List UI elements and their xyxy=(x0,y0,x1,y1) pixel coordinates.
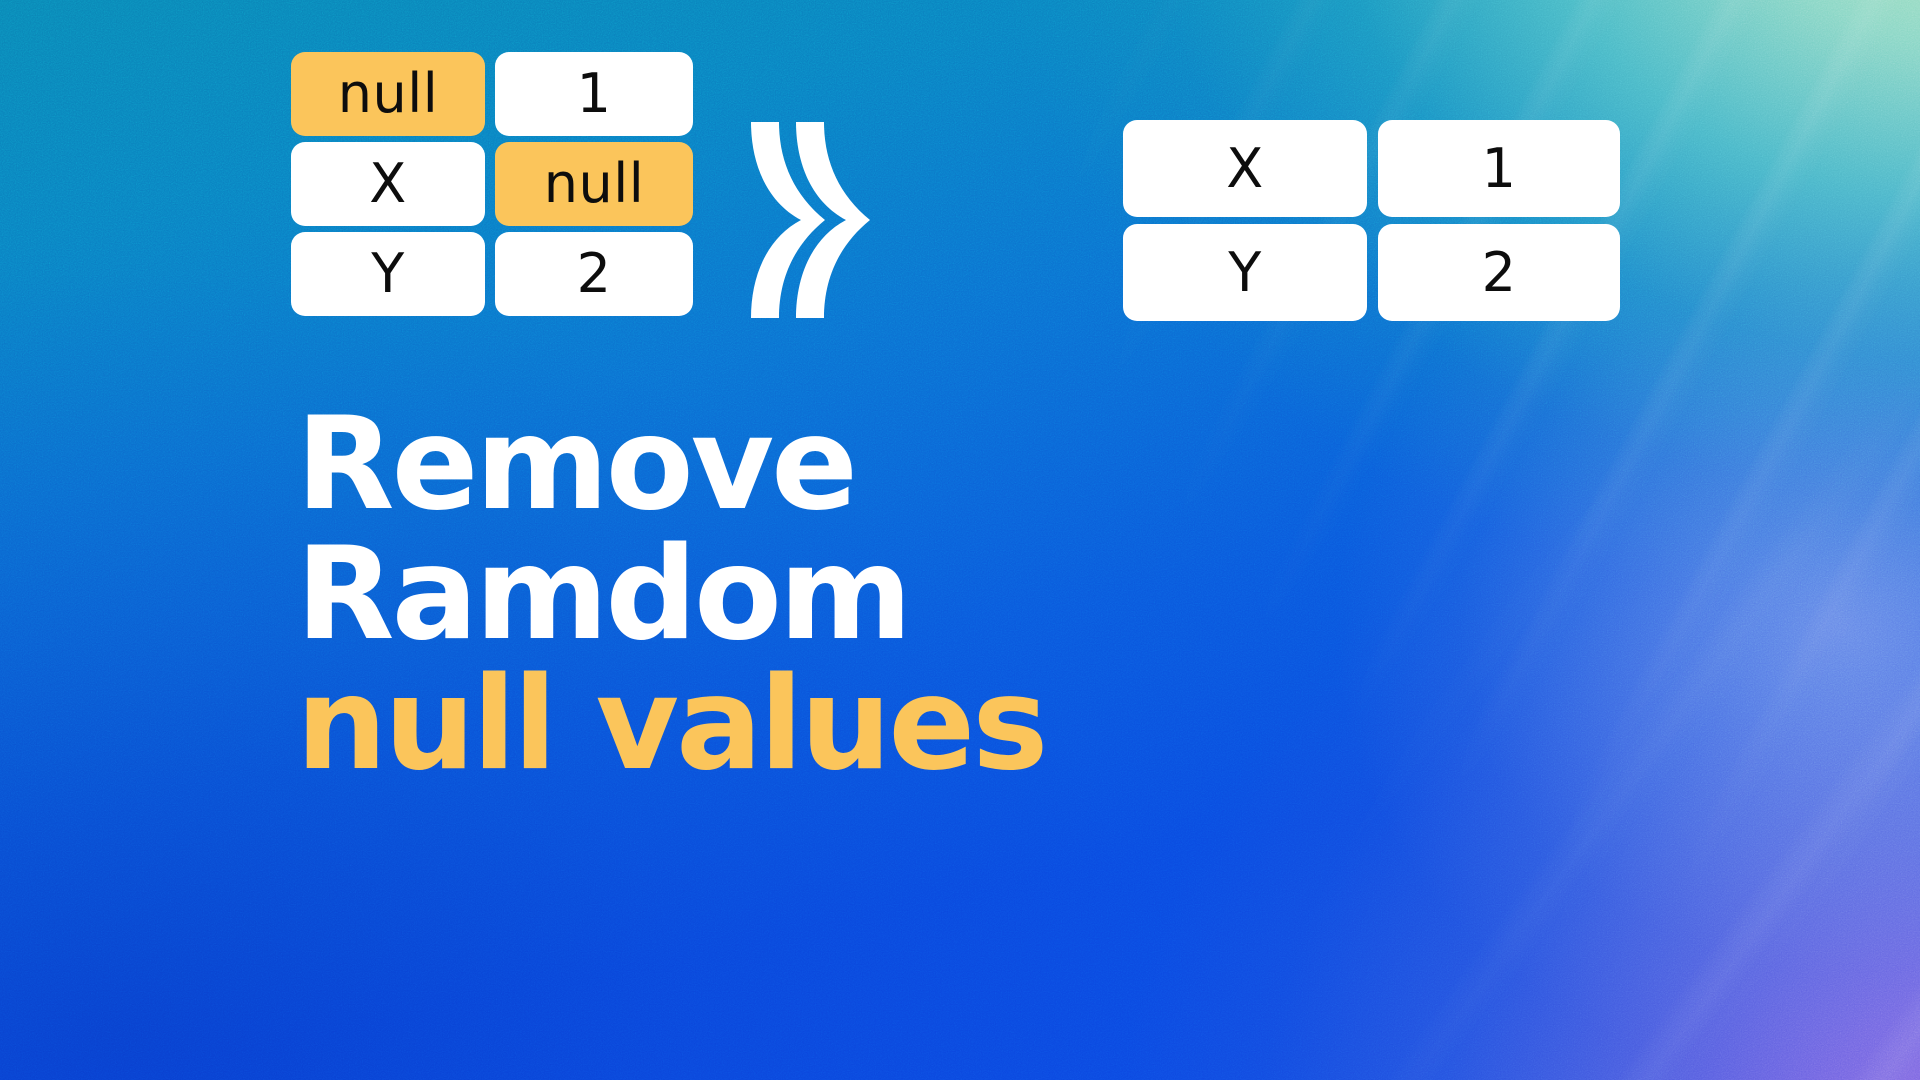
table-cell[interactable]: Y xyxy=(291,232,485,316)
headline-line-1: Remove xyxy=(296,400,1376,530)
headline-line-2: Ramdom xyxy=(296,530,1376,660)
table-cell[interactable]: 1 xyxy=(1378,120,1620,217)
table-cell[interactable]: null xyxy=(495,142,693,226)
table-cell[interactable]: X xyxy=(1123,120,1367,217)
table-cell[interactable]: null xyxy=(291,52,485,136)
table-cell[interactable]: Y xyxy=(1123,224,1367,321)
headline: Remove Ramdom null values xyxy=(296,400,1376,790)
table-cell[interactable]: 1 xyxy=(495,52,693,136)
poster-canvas: null 1 X null Y 2 X 1 Y 2 Remove Ramdom … xyxy=(0,0,1920,1080)
headline-line-3: null values xyxy=(296,660,1376,790)
table-cell[interactable]: 2 xyxy=(495,232,693,316)
double-chevron-right-icon xyxy=(745,122,870,318)
source-table: null 1 X null Y 2 xyxy=(291,52,693,337)
result-table: X 1 Y 2 xyxy=(1123,120,1620,352)
table-cell[interactable]: X xyxy=(291,142,485,226)
table-cell[interactable]: 2 xyxy=(1378,224,1620,321)
